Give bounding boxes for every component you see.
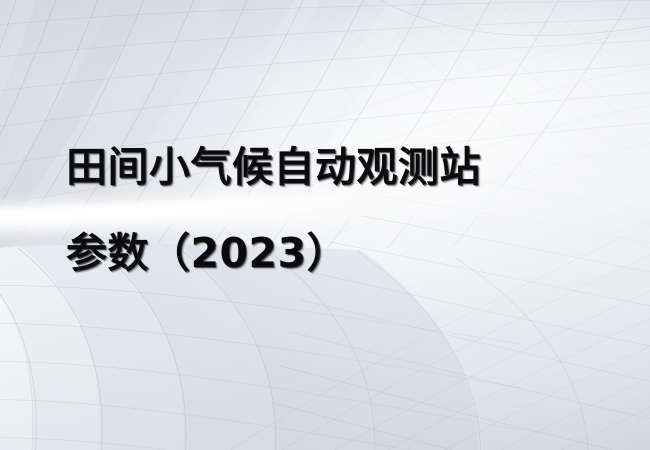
title-line-1: 田间小气候自动观测站 xyxy=(66,124,586,210)
slide-title: 田间小气候自动观测站 参数（2023） xyxy=(66,124,586,296)
title-slide: 田间小气候自动观测站 参数（2023） xyxy=(0,0,650,450)
title-line-2: 参数（2023） xyxy=(66,210,586,296)
